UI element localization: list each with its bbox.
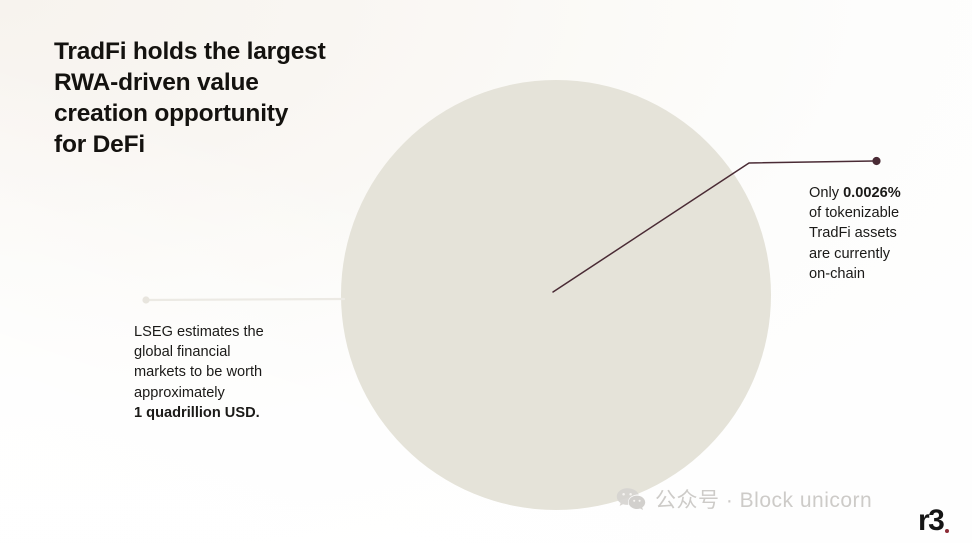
wechat-icon-small-eye-right <box>639 500 641 502</box>
left-leader-dot <box>142 296 149 303</box>
wechat-icon <box>616 487 646 511</box>
watermark-text: 公众号 · Block unicorn <box>655 484 872 514</box>
wechat-icon-small-eye-left <box>633 500 635 502</box>
annotation-right-emphasis: 0.0026% <box>843 185 901 201</box>
annotation-right-lead: Only <box>809 185 843 201</box>
wechat-icon-eye-left <box>622 493 625 496</box>
left-leader-line <box>146 299 344 300</box>
annotation-left-body: LSEG estimates the global financial mark… <box>134 324 264 401</box>
annotation-left-emphasis: 1 quadrillion USD. <box>134 405 260 421</box>
page-title: TradFi holds the largest RWA-driven valu… <box>54 36 384 160</box>
r3-logo: r3 <box>918 506 949 536</box>
watermark: 公众号 · Block unicorn <box>616 484 872 514</box>
slide-canvas: TradFi holds the largest RWA-driven valu… <box>0 0 972 543</box>
wechat-icon-eye-right <box>629 493 632 496</box>
r3-logo-text: r3 <box>918 506 943 536</box>
annotation-on-chain-share: Only 0.0026% of tokenizable TradFi asset… <box>809 183 959 284</box>
wechat-icon-small-bubble <box>629 496 646 510</box>
r3-logo-dot <box>945 529 949 533</box>
right-leader-dot <box>872 157 880 165</box>
annotation-right-body: of tokenizable TradFi assets are current… <box>809 205 899 282</box>
annotation-market-size: LSEG estimates the global financial mark… <box>134 322 334 423</box>
